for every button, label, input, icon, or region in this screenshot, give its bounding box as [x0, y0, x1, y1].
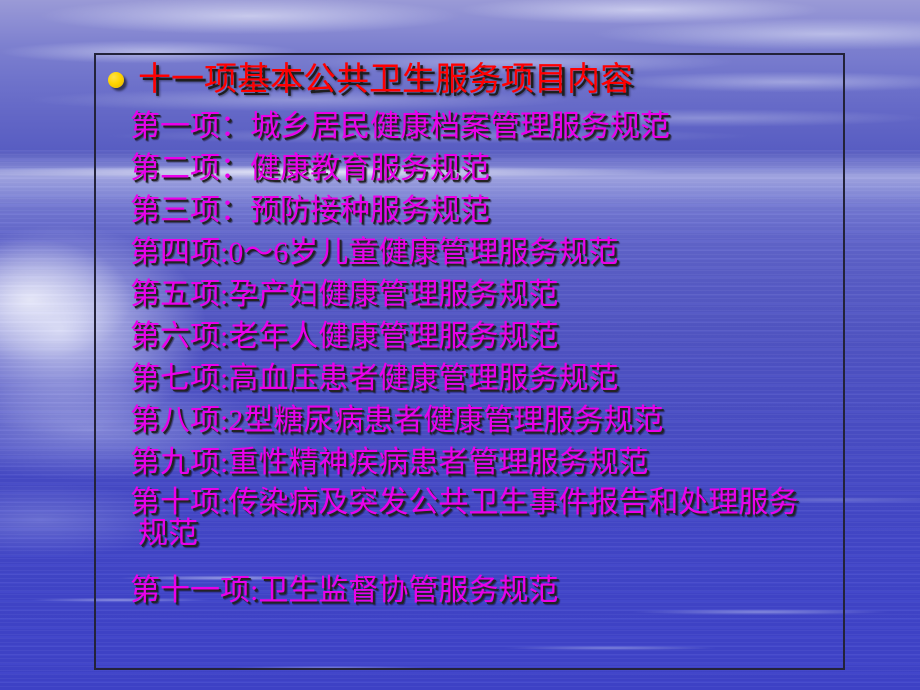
list-item: 第二项：健康教育服务规范 — [130, 148, 844, 190]
list-item-label: 第三项：预防接种服务规范 — [130, 196, 490, 226]
list-item-label: 第七项:高血压患者健康管理服务规范 — [130, 364, 618, 394]
list-item: 第三项：预防接种服务规范 — [130, 190, 844, 232]
list-item: 第一项：城乡居民健康档案管理服务规范 — [130, 106, 844, 148]
list-item-label: 第二项：健康教育服务规范 — [130, 154, 490, 184]
title-row: 十一项基本公共卫生服务项目内容 — [104, 56, 844, 104]
list-item-label: 第九项:重性精神疾病患者管理服务规范 — [130, 448, 648, 478]
list-item: 第十一项:卫生监督协管服务规范 — [130, 570, 844, 612]
bullet-dot-icon — [108, 72, 124, 88]
slide-canvas: 十一项基本公共卫生服务项目内容 第一项：城乡居民健康档案管理服务规范 第二项：健… — [0, 0, 920, 690]
list-item: 第六项:老年人健康管理服务规范 — [130, 316, 844, 358]
list-item-label: 第十项:传染病及突发公共卫生事件报告和处理服务 — [130, 488, 844, 519]
list-item: 第五项:孕产妇健康管理服务规范 — [130, 274, 844, 316]
list-item-label: 第五项:孕产妇健康管理服务规范 — [130, 280, 558, 310]
list-item: 第九项:重性精神疾病患者管理服务规范 — [130, 442, 844, 484]
page-title: 十一项基本公共卫生服务项目内容 — [138, 64, 633, 97]
list-item-label: 第一项：城乡居民健康档案管理服务规范 — [130, 112, 670, 142]
list-item-label: 第六项:老年人健康管理服务规范 — [130, 322, 558, 352]
list-item: 第八项:2型糖尿病患者健康管理服务规范 — [130, 400, 844, 442]
slide-content: 十一项基本公共卫生服务项目内容 第一项：城乡居民健康档案管理服务规范 第二项：健… — [104, 56, 844, 612]
list-item-label-cont: 规范 — [130, 519, 844, 550]
list-item: 第十项:传染病及突发公共卫生事件报告和处理服务 规范 — [130, 484, 844, 564]
list-item: 第四项:0～6岁儿童健康管理服务规范 — [130, 232, 844, 274]
list-item: 第七项:高血压患者健康管理服务规范 — [130, 358, 844, 400]
list-item-label: 第八项:2型糖尿病患者健康管理服务规范 — [130, 406, 663, 436]
list-item-label: 第十一项:卫生监督协管服务规范 — [130, 576, 558, 606]
list-item-label: 第四项:0～6岁儿童健康管理服务规范 — [130, 238, 618, 268]
